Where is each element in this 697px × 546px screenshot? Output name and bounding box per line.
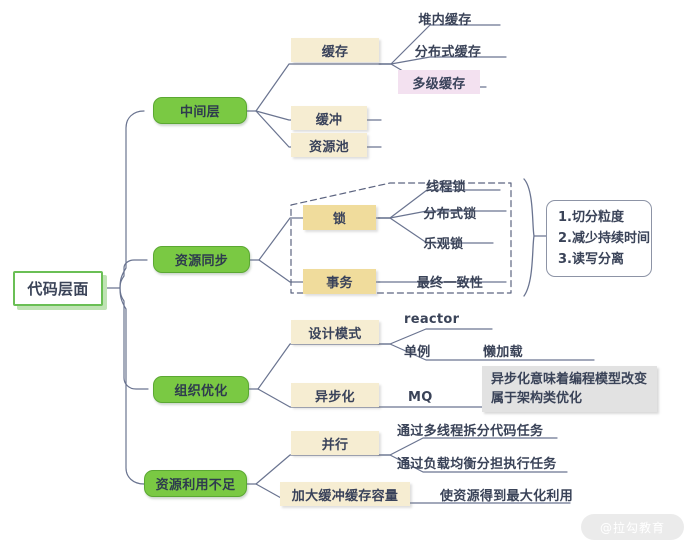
note-async-line-2: 属于架构类优化	[491, 389, 649, 408]
branch-node-middleware[interactable]: 中间层	[153, 97, 247, 124]
leaf-reactor-label: reactor	[404, 312, 459, 327]
leaf-parallel-item-2[interactable]: 通过负载均衡分担执行任务	[397, 452, 575, 472]
node-parallel[interactable]: 并行	[291, 431, 379, 455]
node-transaction-label: 事务	[326, 272, 353, 291]
leaf-max-utilization-label: 使资源得到最大化利用	[440, 485, 573, 504]
leaf-eventual-consistency-label: 最终一致性	[417, 272, 484, 291]
leaf-singleton-label: 单例	[404, 341, 431, 360]
leaf-lazy-load-label: 懒加载	[483, 341, 523, 360]
root-node[interactable]: 代码层面	[13, 271, 103, 306]
node-async-label: 异步化	[315, 386, 355, 405]
branch-node-org-optimization[interactable]: 组织优化	[153, 376, 249, 403]
branch-node-underutilized-label: 资源利用不足	[156, 474, 236, 493]
leaf-singleton[interactable]: 单例	[404, 340, 450, 360]
node-cache-label: 缓存	[322, 41, 349, 60]
leaf-parallel-item-2-label: 通过负载均衡分担执行任务	[397, 453, 557, 472]
node-buffer-label: 缓冲	[316, 109, 343, 128]
node-buffer[interactable]: 缓冲	[291, 106, 367, 130]
node-lock-label: 锁	[333, 208, 346, 227]
leaf-optimistic-lock-label: 乐观锁	[424, 233, 464, 252]
node-async[interactable]: 异步化	[291, 383, 379, 407]
leaf-mq-label: MQ	[408, 390, 433, 405]
leaf-distributed-cache[interactable]: 分布式缓存	[393, 40, 503, 61]
node-resource-pool[interactable]: 资源池	[291, 133, 367, 157]
leaf-optimistic-lock[interactable]: 乐观锁	[395, 232, 492, 253]
node-cache[interactable]: 缓存	[291, 38, 379, 62]
leaf-distributed-cache-label: 分布式缓存	[415, 41, 482, 60]
callout-resource-sync: 1.切分粒度 2.减少持续时间 3.读写分离	[546, 200, 652, 277]
root-node-label: 代码层面	[27, 278, 88, 299]
callout-line-1: 1.切分粒度	[558, 207, 641, 228]
node-parallel-label: 并行	[322, 434, 349, 453]
leaf-heap-cache[interactable]: 堆内缓存	[393, 8, 497, 29]
note-async-line-1: 异步化意味着编程模型改变	[491, 370, 649, 389]
node-resource-pool-label: 资源池	[309, 136, 349, 155]
leaf-multilevel-cache[interactable]: 多级缓存	[398, 70, 480, 94]
leaf-multilevel-cache-label: 多级缓存	[412, 73, 465, 92]
node-design-pattern-label: 设计模式	[308, 323, 361, 342]
leaf-lazy-load[interactable]: 懒加载	[483, 340, 543, 360]
callout-line-3: 3.读写分离	[558, 249, 641, 270]
callout-line-2: 2.减少持续时间	[558, 228, 641, 249]
note-async: 异步化意味着编程模型改变 属于架构类优化	[482, 366, 657, 412]
mindmap-canvas: 代码层面 中间层 缓存 堆内缓存 分布式缓存 多级缓存 缓冲 资源池 资源同步 …	[0, 0, 697, 546]
node-design-pattern[interactable]: 设计模式	[291, 320, 379, 344]
leaf-distributed-lock[interactable]: 分布式锁	[395, 202, 505, 223]
branch-node-middleware-label: 中间层	[180, 101, 220, 120]
leaf-heap-cache-label: 堆内缓存	[418, 9, 471, 28]
leaf-eventual-consistency[interactable]: 最终一致性	[395, 271, 505, 292]
branch-node-org-optimization-label: 组织优化	[174, 380, 227, 399]
leaf-max-utilization[interactable]: 使资源得到最大化利用	[440, 484, 596, 504]
watermark-badge: @拉勾教育	[581, 514, 684, 540]
leaf-distributed-lock-label: 分布式锁	[423, 203, 476, 222]
branch-node-resource-sync-label: 资源同步	[175, 250, 228, 269]
node-enlarge-buffer-label: 加大缓冲缓存容量	[292, 485, 398, 504]
branch-node-underutilized[interactable]: 资源利用不足	[144, 470, 247, 497]
leaf-reactor[interactable]: reactor	[404, 309, 494, 329]
leaf-thread-lock-label: 线程锁	[426, 176, 466, 195]
branch-node-resource-sync[interactable]: 资源同步	[153, 246, 250, 273]
leaf-mq[interactable]: MQ	[408, 387, 448, 407]
leaf-parallel-item-1[interactable]: 通过多线程拆分代码任务	[397, 419, 562, 439]
node-lock[interactable]: 锁	[303, 205, 376, 230]
watermark-label: @拉勾教育	[600, 519, 665, 536]
node-enlarge-buffer[interactable]: 加大缓冲缓存容量	[280, 482, 410, 506]
leaf-thread-lock[interactable]: 线程锁	[395, 175, 497, 196]
leaf-parallel-item-1-label: 通过多线程拆分代码任务	[397, 420, 543, 439]
node-transaction[interactable]: 事务	[303, 269, 376, 294]
